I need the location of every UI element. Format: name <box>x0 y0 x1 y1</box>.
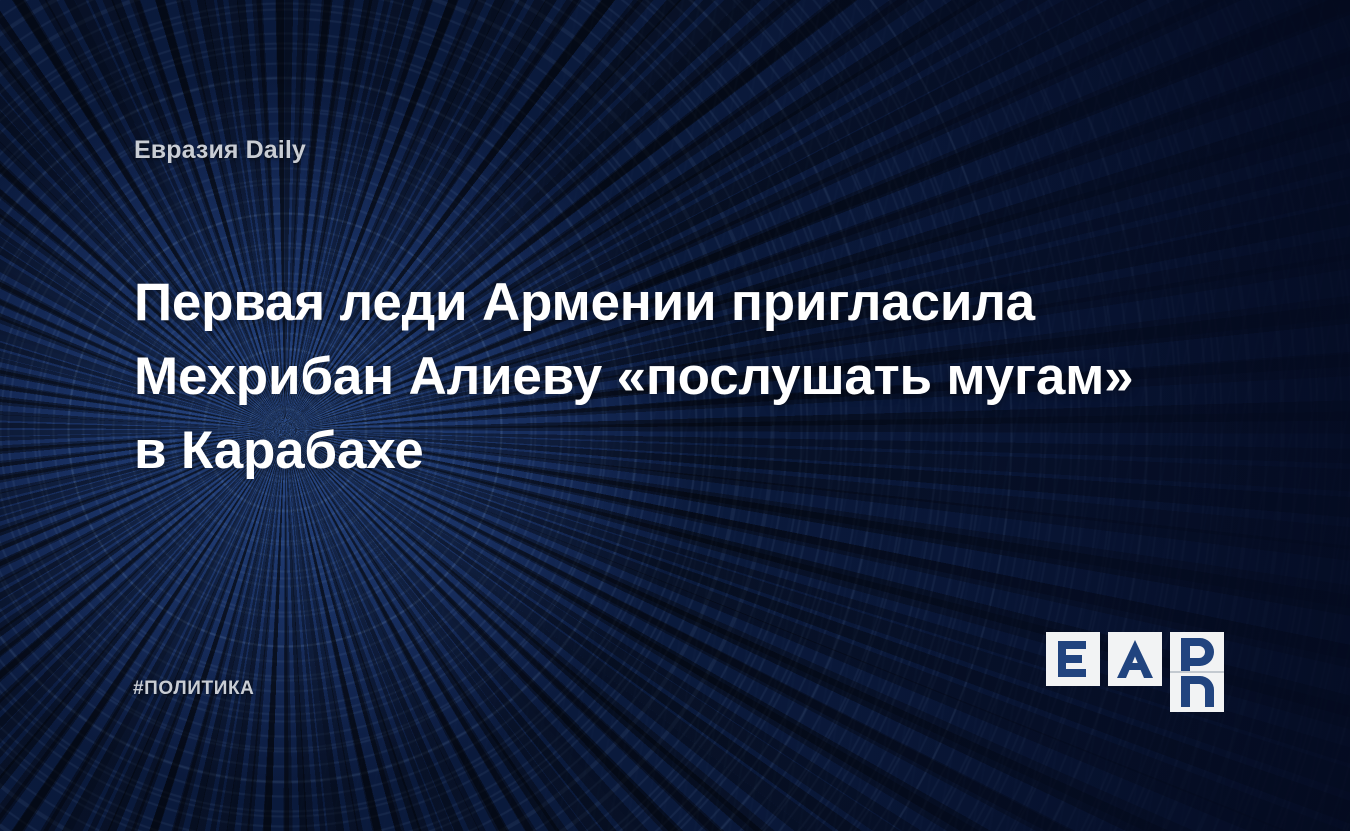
letter-d-tile-icon <box>1170 632 1224 712</box>
eadaily-logo <box>1046 632 1224 712</box>
headline: Первая леди Армении пригласила Мехрибан … <box>134 266 1164 488</box>
news-card: Евразия Daily Первая леди Армении пригла… <box>0 0 1350 831</box>
letter-e-tile-icon <box>1046 632 1100 686</box>
letter-a-tile-icon <box>1108 632 1162 686</box>
category-tag: #ПОЛИТИКА <box>133 678 255 700</box>
source-label: Евразия Daily <box>134 136 306 165</box>
